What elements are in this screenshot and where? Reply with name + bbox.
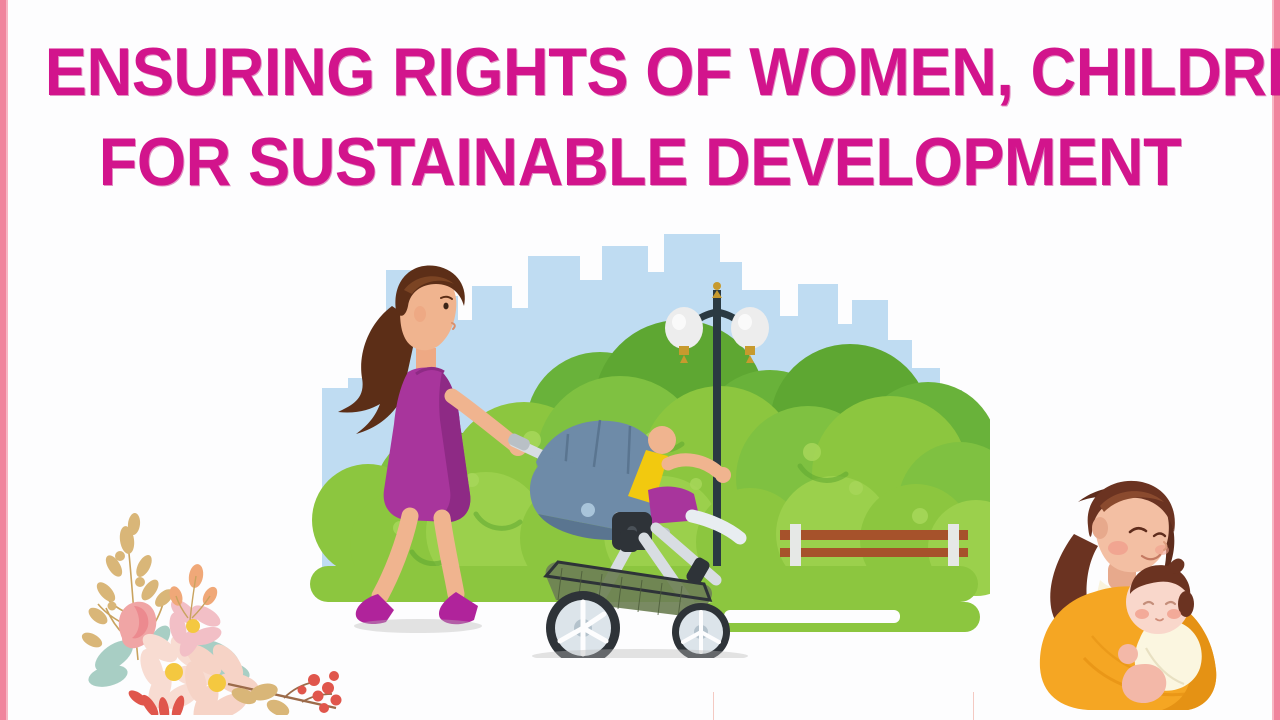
- left-pink-accent-bar-inner: [6, 0, 8, 720]
- title-line-2: FOR SUSTAINABLE DEVELOPMENT: [45, 126, 1235, 198]
- footer-divider-left: [713, 692, 714, 720]
- page-title: ENSURING RIGHTS OF WOMEN, CHILDREN FOR S…: [0, 36, 1280, 198]
- floral-corner-decoration: [78, 470, 348, 715]
- right-pink-accent-bar: [1274, 0, 1280, 720]
- park-scene-illustration: [300, 228, 990, 658]
- footer-divider-right: [973, 692, 974, 720]
- left-pink-accent-bar: [0, 0, 6, 720]
- slide-canvas: ENSURING RIGHTS OF WOMEN, CHILDREN FOR S…: [0, 0, 1280, 720]
- small-buds: [167, 563, 220, 608]
- title-line-1: ENSURING RIGHTS OF WOMEN, CHILDREN: [45, 36, 1235, 108]
- right-pink-accent-bar-inner: [1272, 0, 1274, 720]
- mother-and-baby-illustration: [1022, 462, 1237, 712]
